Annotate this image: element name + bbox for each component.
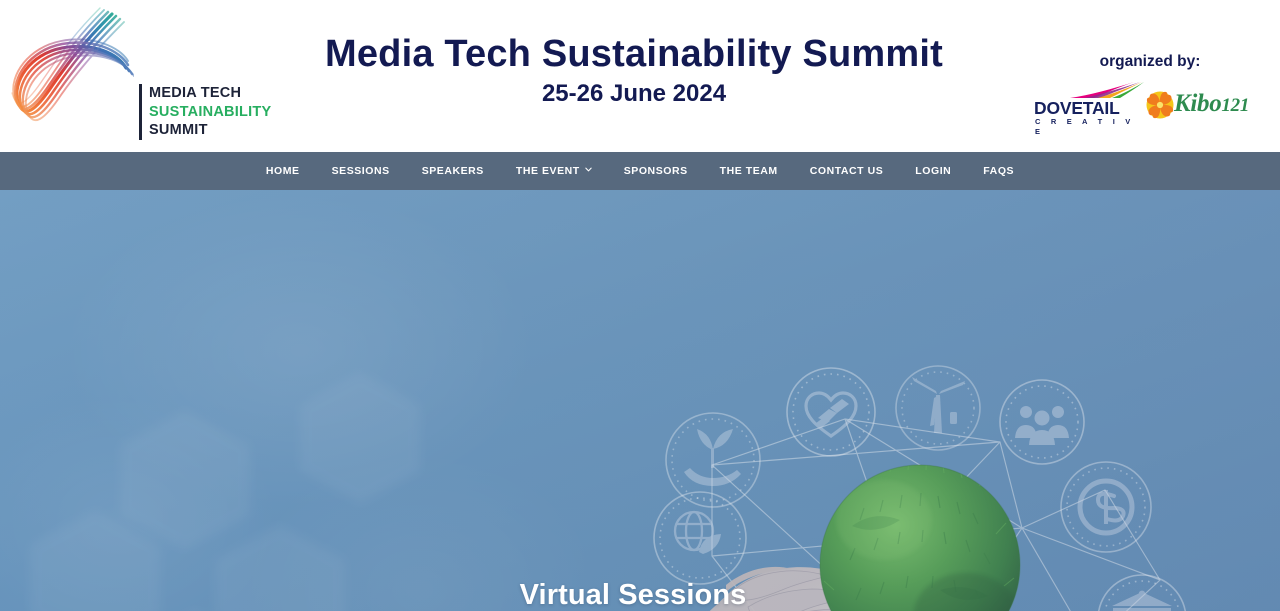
dovetail-name: DOVETAIL (1034, 98, 1144, 118)
hero-heading: Virtual Sessions (0, 576, 1266, 611)
dovetail-tagline: C R E A T I V E (1035, 117, 1145, 137)
dovetail-creative-logo[interactable]: DOVETAIL C R E A T I V E (1034, 81, 1144, 129)
organizer-logos: DOVETAIL C R E A T I V E (1022, 81, 1278, 129)
nav-item-contact-us[interactable]: CONTACT US (794, 152, 900, 190)
nav-item-home[interactable]: HOME (250, 152, 316, 190)
event-dates: 25-26 June 2024 (230, 79, 1038, 109)
organized-by-label: organized by: (1022, 52, 1278, 72)
nav-item-label: SPONSORS (624, 152, 688, 190)
main-navigation: HOME SESSIONS SPEAKERS THE EVENT SPONSOR… (0, 152, 1280, 190)
kibo-name: Kibo121 (1174, 87, 1249, 123)
group-of-people-icon (1000, 380, 1084, 464)
nav-item-label: HOME (266, 152, 300, 190)
hero-banner: Virtual Sessions (0, 190, 1280, 611)
media-tech-sustainability-summit-infinity-logo (8, 2, 134, 138)
dovetail-swoosh-icon (1068, 81, 1144, 99)
hero-artwork (0, 190, 1280, 611)
nav-item-label: THE EVENT (516, 152, 580, 190)
kibo-digits: 121 (1221, 95, 1249, 116)
nav-item-label: LOGIN (915, 152, 951, 190)
kibo121-logo[interactable]: Kibo121 (1146, 87, 1272, 123)
event-title-block: Media Tech Sustainability Summit 25-26 J… (230, 32, 1038, 109)
nav-item-label: CONTACT US (810, 152, 884, 190)
nav-item-speakers[interactable]: SPEAKERS (406, 152, 500, 190)
nav-item-label: SPEAKERS (422, 152, 484, 190)
nav-item-sponsors[interactable]: SPONSORS (608, 152, 704, 190)
logo-line-summit: SUMMIT (149, 121, 277, 140)
nav-list: HOME SESSIONS SPEAKERS THE EVENT SPONSOR… (250, 152, 1030, 190)
page-title: Media Tech Sustainability Summit (230, 32, 1038, 76)
page-root: MEDIA TECH SUSTAINABILITY SUMMIT Media T… (0, 0, 1280, 611)
site-header: MEDIA TECH SUSTAINABILITY SUMMIT Media T… (0, 0, 1280, 152)
nav-item-the-team[interactable]: THE TEAM (704, 152, 794, 190)
nav-item-label: SESSIONS (332, 152, 390, 190)
nav-item-label: FAQS (983, 152, 1014, 190)
nav-item-sessions[interactable]: SESSIONS (316, 152, 406, 190)
nav-item-the-event[interactable]: THE EVENT (500, 152, 608, 190)
kibo-pinwheel-icon (1146, 91, 1174, 119)
organized-by-block: organized by: DOVETAIL C R E A T I V E (1022, 52, 1278, 129)
kibo-word: Kibo (1174, 90, 1221, 117)
logo-divider (139, 84, 142, 140)
nav-item-label: THE TEAM (720, 152, 778, 190)
chevron-down-icon (585, 166, 592, 173)
handshake-in-heart-icon (787, 368, 875, 456)
nav-item-login[interactable]: LOGIN (899, 152, 967, 190)
wind-turbine-icon (896, 366, 980, 450)
hand-with-plant-icon (666, 413, 760, 507)
nav-item-faqs[interactable]: FAQS (967, 152, 1030, 190)
dollar-coin-icon (1061, 462, 1151, 552)
